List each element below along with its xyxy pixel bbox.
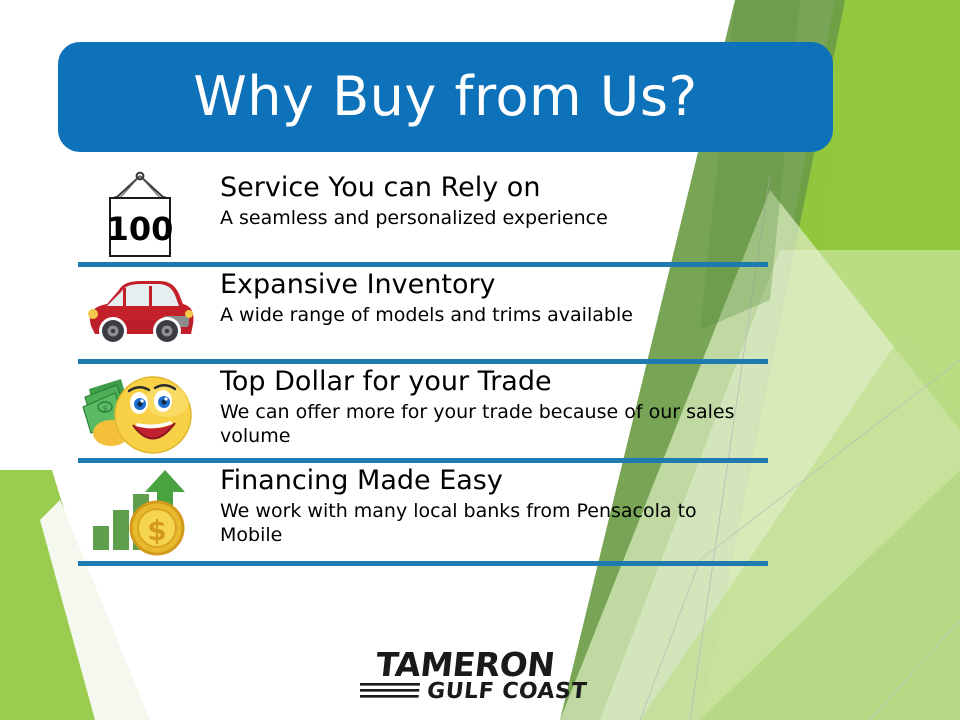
benefit-text-cell: Service You can Rely on A seamless and p… bbox=[220, 170, 760, 231]
slide-canvas: Why Buy from Us? 100 Se bbox=[0, 0, 960, 720]
row-divider bbox=[78, 561, 768, 566]
list-item: $ Financing Made Easy We work with many … bbox=[60, 463, 760, 566]
benefit-subtitle: We work with many local banks from Pensa… bbox=[220, 500, 760, 548]
tameron-gulf-coast-logo: TAMERON GULF COAST bbox=[360, 645, 600, 707]
svg-text:$: $ bbox=[102, 404, 107, 413]
benefit-subtitle: A seamless and personalized experience bbox=[220, 207, 760, 231]
hanging-sign-100-icon: 100 bbox=[94, 170, 186, 262]
benefit-text-cell: Top Dollar for your Trade We can offer m… bbox=[220, 364, 760, 449]
logo-stripes bbox=[360, 683, 420, 698]
logo-mark: TAMERON GULF COAST bbox=[360, 645, 600, 707]
list-item: Expansive Inventory A wide range of mode… bbox=[60, 267, 760, 364]
slide-title-bar: Why Buy from Us? bbox=[58, 42, 833, 152]
sign-number-label: 100 bbox=[107, 210, 174, 248]
red-car-icon bbox=[79, 272, 201, 354]
benefit-title: Top Dollar for your Trade bbox=[220, 366, 760, 397]
page-title: Why Buy from Us? bbox=[193, 70, 697, 124]
benefit-title: Expansive Inventory bbox=[220, 269, 760, 300]
benefit-text-cell: Expansive Inventory A wide range of mode… bbox=[220, 267, 760, 328]
logo-secondary-text: GULF COAST bbox=[426, 679, 588, 704]
growth-chart-coin-icon: $ bbox=[85, 466, 195, 558]
benefit-subtitle: A wide range of models and trims availab… bbox=[220, 304, 760, 328]
list-item: $ bbox=[60, 364, 760, 463]
benefit-subtitle: We can offer more for your trade because… bbox=[220, 401, 760, 449]
benefit-icon-cell: $ bbox=[60, 463, 220, 561]
benefit-title: Financing Made Easy bbox=[220, 465, 760, 496]
list-item: 100 Service You can Rely on A seamless a… bbox=[60, 170, 760, 267]
benefit-title: Service You can Rely on bbox=[220, 172, 760, 203]
benefit-icon-cell: 100 bbox=[60, 170, 220, 262]
benefit-icon-cell: $ bbox=[60, 364, 220, 458]
benefit-text-cell: Financing Made Easy We work with many lo… bbox=[220, 463, 760, 548]
coin-dollar-label: $ bbox=[147, 514, 166, 547]
benefits-list: 100 Service You can Rely on A seamless a… bbox=[0, 170, 960, 566]
benefit-icon-cell bbox=[60, 267, 220, 359]
smiley-with-money-icon: $ bbox=[81, 367, 199, 455]
